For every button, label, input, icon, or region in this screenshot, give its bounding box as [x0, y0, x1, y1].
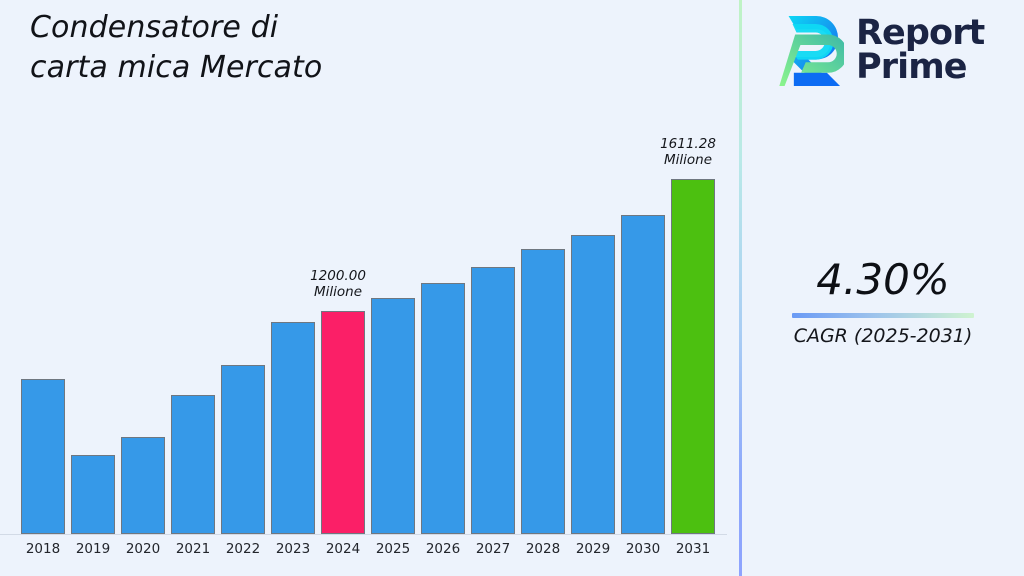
x-tick-2018: 2018: [18, 541, 68, 557]
x-tick-2030: 2030: [618, 541, 668, 557]
x-tick-2026: 2026: [418, 541, 468, 557]
bar-2026: [421, 283, 465, 534]
screenshot-root: Condensatore di carta mica Mercato 1200.…: [0, 0, 1024, 576]
bar-2031: [671, 179, 715, 534]
bar-2030: [621, 215, 665, 534]
x-tick-2022: 2022: [218, 541, 268, 557]
bar-2028: [521, 249, 565, 534]
brand-logo: Report Prime: [778, 12, 984, 90]
bar-value-label-2031: 1611.28 Milione: [640, 137, 736, 169]
bar-2029: [571, 235, 615, 534]
x-tick-2027: 2027: [468, 541, 518, 557]
x-tick-2028: 2028: [518, 541, 568, 557]
x-tick-2024: 2024: [318, 541, 368, 557]
side-panel: Report Prime 4.30% CAGR (2025-2031): [742, 0, 1024, 576]
bar-2023: [271, 322, 315, 534]
bar-chart-plot: 1200.00 Milione1611.28 Milione 201820192…: [0, 0, 739, 576]
cagr-caption: CAGR (2025-2031): [742, 325, 1024, 347]
x-tick-2021: 2021: [168, 541, 218, 557]
bar-2020: [121, 437, 165, 534]
x-tick-2029: 2029: [568, 541, 618, 557]
bar-2019: [71, 455, 115, 534]
report-prime-logo-icon: [778, 12, 844, 90]
x-axis-line: [0, 534, 727, 535]
chart-panel: Condensatore di carta mica Mercato 1200.…: [0, 0, 739, 576]
x-tick-2025: 2025: [368, 541, 418, 557]
brand-name-line2: Prime: [856, 51, 984, 85]
x-tick-2031: 2031: [668, 541, 718, 557]
bar-2022: [221, 365, 265, 534]
bar-value-label-2024: 1200.00 Milione: [290, 269, 386, 301]
cagr-block: 4.30% CAGR (2025-2031): [742, 255, 1024, 347]
x-tick-2023: 2023: [268, 541, 318, 557]
bar-2027: [471, 267, 515, 534]
cagr-value: 4.30%: [742, 255, 1024, 304]
cagr-divider-rule: [792, 313, 974, 318]
bar-2024: [321, 311, 365, 534]
brand-name: Report Prime: [856, 17, 984, 85]
x-tick-2020: 2020: [118, 541, 168, 557]
brand-name-line1: Report: [856, 17, 984, 51]
bar-2021: [171, 395, 215, 534]
x-tick-2019: 2019: [68, 541, 118, 557]
bar-2018: [21, 379, 65, 534]
bar-2025: [371, 298, 415, 534]
